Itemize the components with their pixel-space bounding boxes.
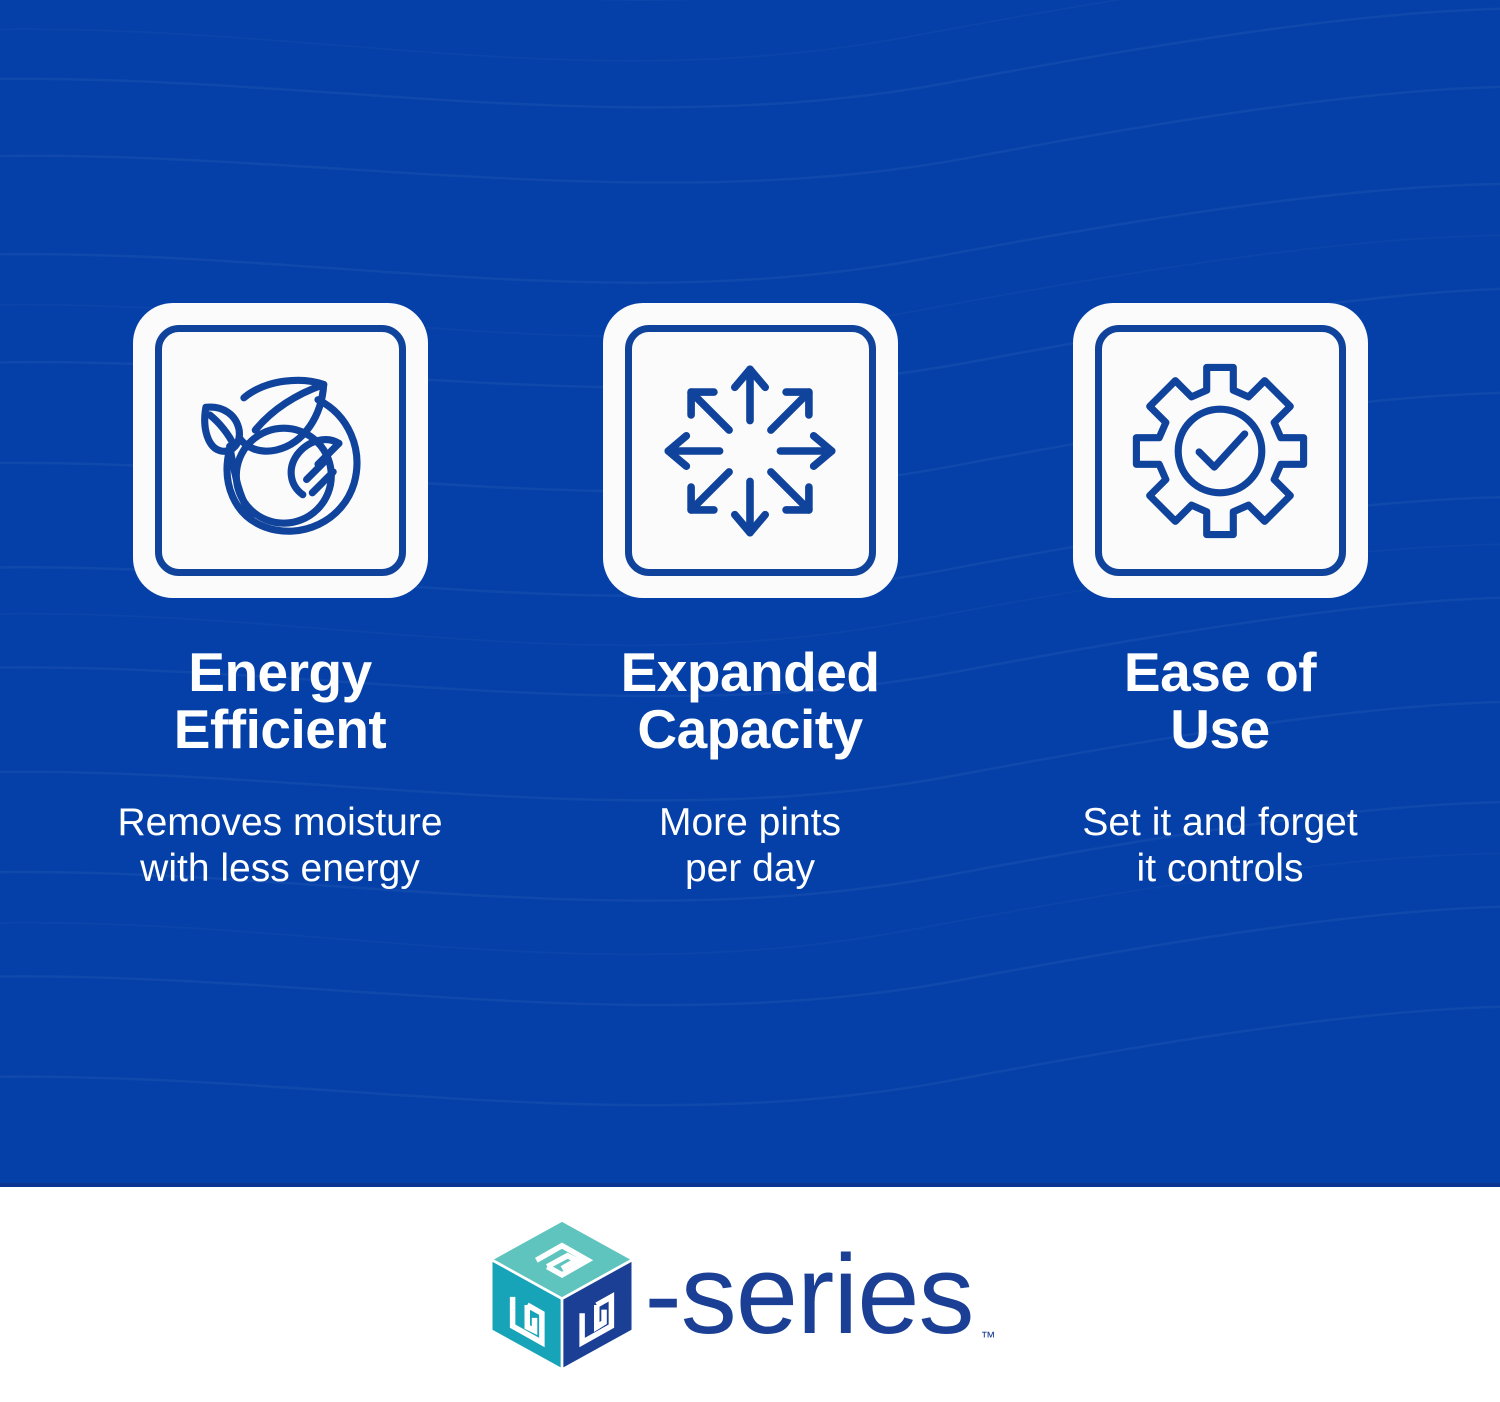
feature-headline: Ease of Use [1124, 644, 1316, 758]
icon-tile [603, 303, 898, 598]
feature-headline: Energy Efficient [174, 644, 386, 758]
wordmark-text: -series [644, 1232, 973, 1357]
icon-tile [133, 303, 428, 598]
logo-band: -series ™ [0, 1187, 1500, 1402]
trademark-symbol: ™ [981, 1330, 996, 1345]
gear-check-icon [1125, 356, 1315, 546]
feature-panel: Energy Efficient Removes moisture with l… [0, 0, 1500, 1187]
feature-list: Energy Efficient Removes moisture with l… [0, 0, 1500, 1183]
icon-tile [1073, 303, 1368, 598]
feature-energy-efficient: Energy Efficient Removes moisture with l… [45, 303, 515, 891]
feature-headline: Expanded Capacity [621, 644, 880, 758]
expand-arrows-icon [655, 356, 845, 546]
brand-lockup: -series ™ [488, 1220, 995, 1370]
product-feature-poster: Energy Efficient Removes moisture with l… [0, 0, 1500, 1402]
e-series-cube-logo [488, 1220, 636, 1370]
feature-subtext: Set it and forget it controls [1082, 800, 1357, 890]
energy-leaf-plug-icon [185, 356, 375, 546]
feature-expanded-capacity: Expanded Capacity More pints per day [515, 303, 985, 891]
feature-subtext: Removes moisture with less energy [117, 800, 442, 890]
feature-ease-of-use: Ease of Use Set it and forget it control… [985, 303, 1455, 891]
feature-subtext: More pints per day [659, 800, 841, 890]
wordmark: -series ™ [644, 1239, 995, 1351]
